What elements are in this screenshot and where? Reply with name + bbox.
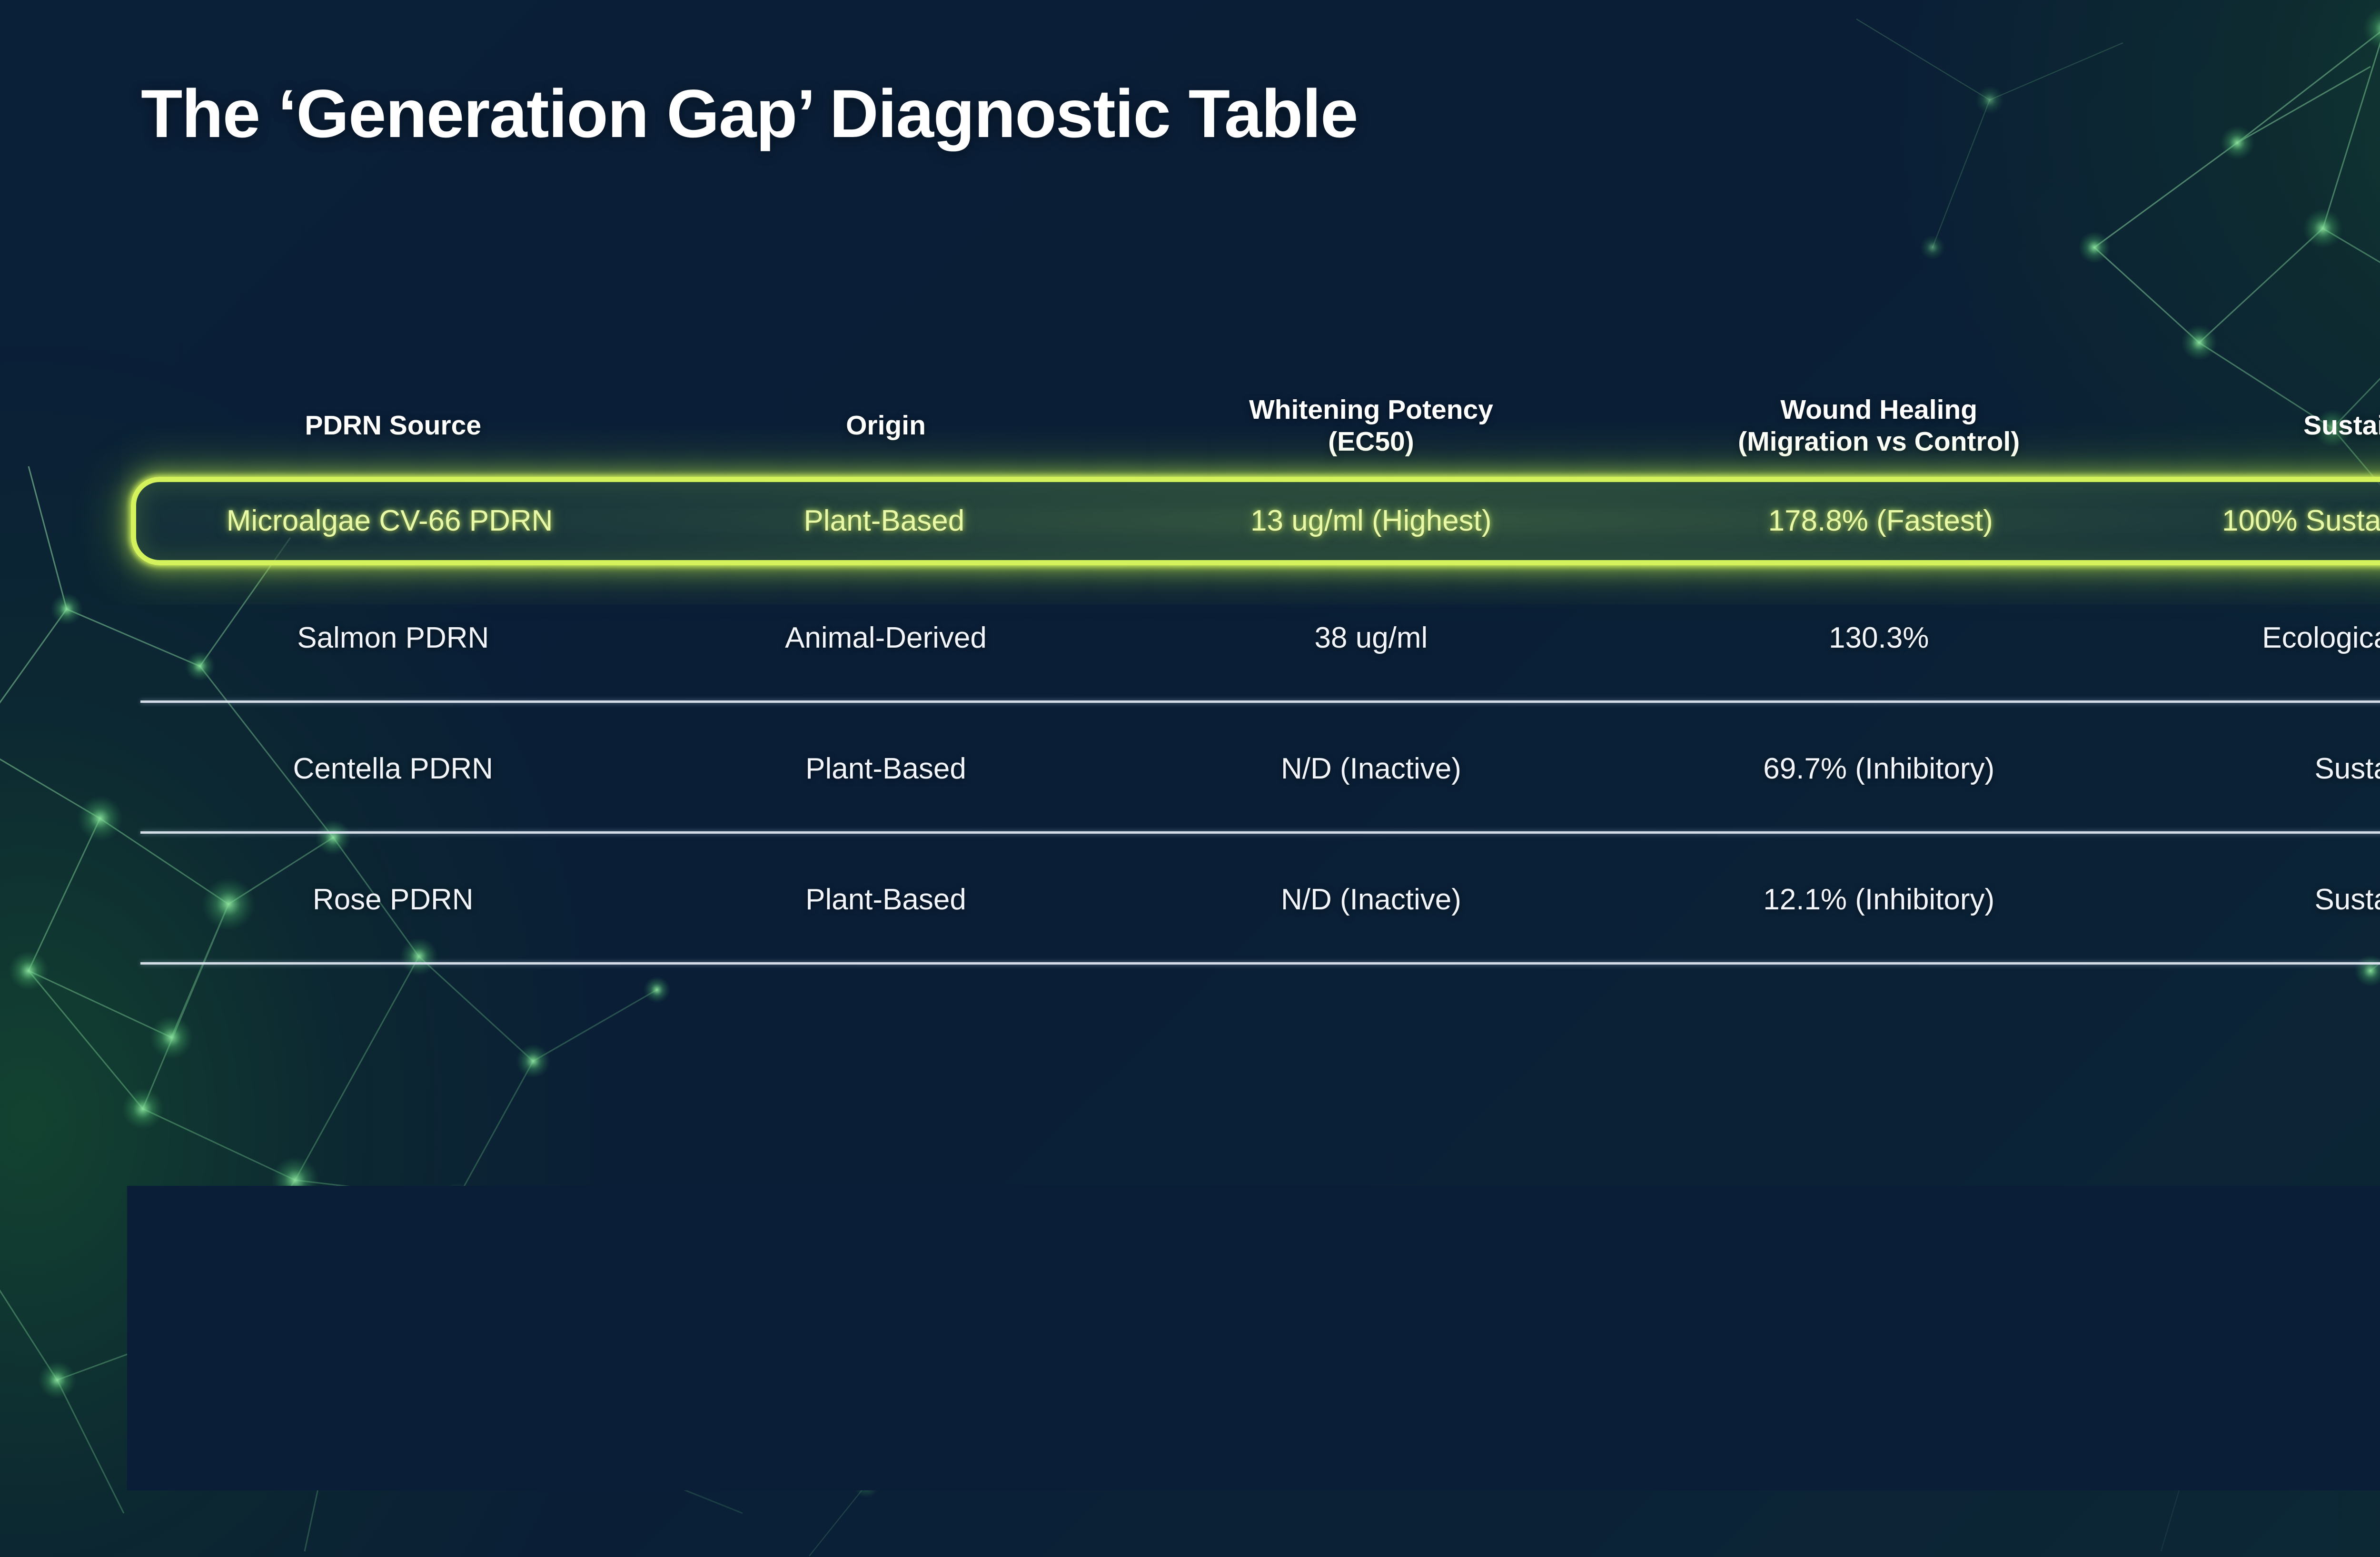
spacer <box>140 566 2380 598</box>
cell-source: Salmon PDRN <box>140 621 646 655</box>
cell-origin: Plant-Based <box>646 882 1126 917</box>
table-row-highlighted[interactable]: Microalgae CV-66 PDRN Plant-Based 13 ug/… <box>131 477 2380 565</box>
column-header-origin: Origin <box>646 410 1126 442</box>
cell-source: Centella PDRN <box>140 751 646 786</box>
cell-healing: 12.1% (Inhibitory) <box>1616 882 2142 917</box>
cell-healing: 178.8% (Fastest) <box>1617 503 2144 538</box>
page-title: The ‘Generation Gap’ Diagnostic Table <box>141 75 1358 153</box>
cell-whitening: 38 ug/ml <box>1126 621 1616 655</box>
table-row[interactable]: Rose PDRN Plant-Based N/D (Inactive) 12.… <box>140 859 2380 940</box>
cell-sustainability: 100% Sustainable / Vegan <box>2144 503 2380 538</box>
cell-source: Rose PDRN <box>140 882 646 917</box>
cell-whitening: N/D (Inactive) <box>1126 882 1616 917</box>
cell-healing: 69.7% (Inhibitory) <box>1616 751 2142 786</box>
column-header-whitening-line2: (EC50) <box>1130 426 1611 458</box>
cell-sustainability: Ecologically Limited <box>2142 621 2380 655</box>
column-header-whitening-line1: Whitening Potency <box>1130 394 1611 426</box>
table-row[interactable]: Centella PDRN Plant-Based N/D (Inactive)… <box>140 729 2380 809</box>
cell-whitening: 13 ug/ml (Highest) <box>1125 503 1617 538</box>
spacer <box>140 809 2380 831</box>
diagnostic-table: PDRN Source Origin Whitening Potency (EC… <box>140 376 2380 965</box>
column-header-pdrn-source: PDRN Source <box>140 410 646 442</box>
cell-origin: Plant-Based <box>643 503 1125 538</box>
table-row[interactable]: Salmon PDRN Animal-Derived 38 ug/ml 130.… <box>140 598 2380 679</box>
cell-source: Microalgae CV-66 PDRN <box>136 503 643 538</box>
cell-origin: Animal-Derived <box>646 621 1126 655</box>
table-header-row: PDRN Source Origin Whitening Potency (EC… <box>140 376 2380 476</box>
slide-canvas: The ‘Generation Gap’ Diagnostic Table PD… <box>0 0 2380 1557</box>
highlighted-row-container: Microalgae CV-66 PDRN Plant-Based 13 ug/… <box>130 476 2380 566</box>
cell-sustainability: Sustainable <box>2142 751 2380 786</box>
cell-origin: Plant-Based <box>646 751 1126 786</box>
cell-healing: 130.3% <box>1616 621 2142 655</box>
spacer <box>140 940 2380 962</box>
column-header-sustainability: Sustainability <box>2142 410 2380 442</box>
cell-sustainability: Sustainable <box>2142 882 2380 917</box>
row-divider <box>140 700 2380 703</box>
column-header-healing-line2: (Migration vs Control) <box>1621 426 2137 458</box>
row-divider <box>140 831 2380 834</box>
bottom-content-panel <box>127 1186 2380 1490</box>
spacer <box>140 679 2380 700</box>
column-header-wound-healing: Wound Healing (Migration vs Control) <box>1616 394 2142 458</box>
column-header-whitening-potency: Whitening Potency (EC50) <box>1126 394 1616 458</box>
cell-whitening: N/D (Inactive) <box>1126 751 1616 786</box>
column-header-healing-line1: Wound Healing <box>1621 394 2137 426</box>
row-divider <box>140 962 2380 965</box>
